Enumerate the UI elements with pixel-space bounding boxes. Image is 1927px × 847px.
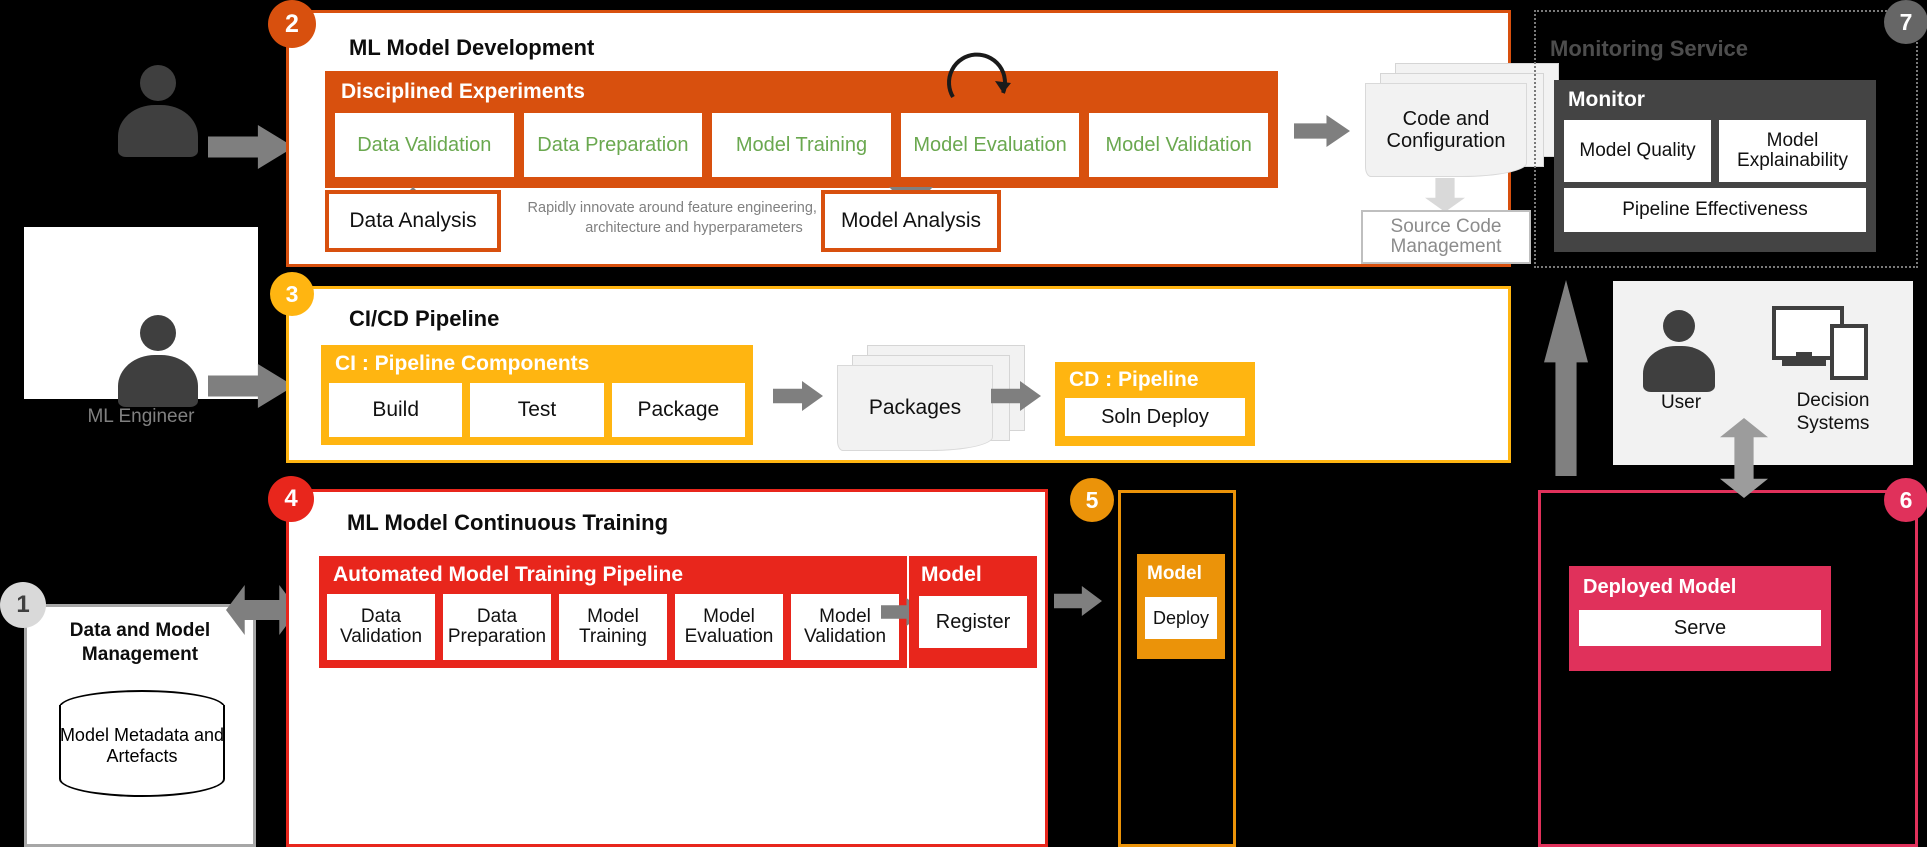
ml-engineer-icon bbox=[118, 315, 198, 407]
arrow-up-to-monitoring bbox=[1544, 280, 1588, 476]
panel2-title: ML Model Development bbox=[349, 35, 594, 61]
circular-loop-arrow-icon bbox=[937, 35, 1021, 119]
panel4-title: ML Model Continuous Training bbox=[347, 510, 668, 536]
panel-model-deploy: Model Deploy bbox=[1118, 490, 1236, 847]
user-icon bbox=[1643, 310, 1715, 392]
badge-7: 7 bbox=[1884, 0, 1927, 44]
panel-ml-model-development: ML Model Development Disciplined Experim… bbox=[286, 10, 1511, 267]
ci-step[interactable]: Test bbox=[470, 383, 603, 437]
experiment-step[interactable]: Model Evaluation bbox=[901, 113, 1080, 177]
arrow-register-to-deploy bbox=[1054, 586, 1102, 616]
panel-cicd-pipeline: CI/CD Pipeline CI : Pipeline Components … bbox=[286, 286, 1511, 463]
badge-6: 6 bbox=[1884, 478, 1927, 522]
automated-training-pipeline-band: Automated Model Training Pipeline Data V… bbox=[319, 556, 907, 668]
ci-pipeline-components-band: CI : Pipeline Components Build Test Pack… bbox=[321, 345, 753, 445]
deployed-band-title: Deployed Model bbox=[1583, 576, 1736, 599]
decision-systems-label: Decision Systems bbox=[1760, 390, 1906, 436]
badge-5: 5 bbox=[1070, 478, 1114, 522]
arrow-down-to-source-control bbox=[1425, 178, 1465, 212]
panel-ml-model-continuous-training: ML Model Continuous Training Automated M… bbox=[286, 489, 1048, 847]
deploy-band-title: Model bbox=[1147, 563, 1202, 585]
atp-band-title: Automated Model Training Pipeline bbox=[333, 563, 683, 587]
panel7-title: Monitoring Service bbox=[1550, 36, 1748, 62]
panel-monitoring-service: Monitoring Service Monitor Model Quality… bbox=[1534, 10, 1918, 268]
code-and-configuration-label: Code and Configuration bbox=[1365, 83, 1527, 177]
monitor-item[interactable]: Model Quality bbox=[1564, 120, 1711, 182]
training-step[interactable]: Model Evaluation bbox=[675, 594, 783, 660]
model-deploy-band: Model Deploy bbox=[1137, 554, 1225, 659]
experiment-step[interactable]: Data Validation bbox=[335, 113, 514, 177]
arrow-data-scientist-to-dev bbox=[208, 125, 294, 169]
cd-step[interactable]: Soln Deploy bbox=[1065, 398, 1245, 436]
model-deploy-step[interactable]: Deploy bbox=[1145, 597, 1217, 639]
badge-4: 4 bbox=[268, 476, 314, 522]
band-title: Disciplined Experiments bbox=[341, 80, 585, 104]
panel1-title: Data and Model Management bbox=[27, 619, 253, 667]
monitor-band-title: Monitor bbox=[1568, 88, 1645, 112]
user-label: User bbox=[1613, 392, 1749, 414]
disciplined-experiments-band: Disciplined Experiments Data Validation … bbox=[325, 71, 1278, 188]
panel-deployed-model: Deployed Model Serve bbox=[1538, 490, 1918, 847]
monitor-item[interactable]: Pipeline Effectiveness bbox=[1564, 188, 1866, 232]
training-step[interactable]: Model Validation bbox=[791, 594, 899, 660]
arrow-to-code-and-config bbox=[1294, 115, 1350, 147]
code-and-configuration-docs: Code and Configuration bbox=[1365, 63, 1557, 181]
badge-3: 3 bbox=[270, 272, 314, 316]
cd-band-title: CD : Pipeline bbox=[1069, 368, 1199, 392]
data-analysis-box[interactable]: Data Analysis bbox=[325, 190, 501, 252]
training-step[interactable]: Model Training bbox=[559, 594, 667, 660]
experiment-step[interactable]: Model Validation bbox=[1089, 113, 1268, 177]
model-analysis-box[interactable]: Model Analysis bbox=[821, 190, 1001, 252]
store-label: Model Metadata and Artefacts bbox=[59, 725, 225, 766]
arrow-ci-to-packages bbox=[773, 381, 823, 411]
experiment-step[interactable]: Model Training bbox=[712, 113, 891, 177]
panel3-title: CI/CD Pipeline bbox=[349, 306, 499, 332]
data-scientist-icon bbox=[118, 65, 198, 157]
training-step[interactable]: Data Validation bbox=[327, 594, 435, 660]
cd-pipeline-band: CD : Pipeline Soln Deploy bbox=[1055, 362, 1255, 446]
ci-band-title: CI : Pipeline Components bbox=[335, 352, 589, 376]
ml-engineer-label: ML Engineer bbox=[24, 406, 258, 428]
model-register-step[interactable]: Register bbox=[919, 596, 1027, 648]
experiment-step[interactable]: Data Preparation bbox=[524, 113, 703, 177]
training-step[interactable]: Data Preparation bbox=[443, 594, 551, 660]
packages-label: Packages bbox=[837, 365, 993, 451]
badge-1: 1 bbox=[0, 582, 46, 628]
monitor-item[interactable]: Model Explainability bbox=[1719, 120, 1866, 182]
monitor-band: Monitor Model Quality Model Explainabili… bbox=[1554, 80, 1876, 252]
database-cylinder-icon: Model Metadata and Artefacts bbox=[59, 690, 225, 795]
source-code-management-box[interactable]: Source Code Management bbox=[1361, 210, 1531, 264]
panel-data-and-model-management: Data and Model Management Model Metadata… bbox=[24, 604, 256, 847]
deployed-model-band: Deployed Model Serve bbox=[1569, 566, 1831, 671]
badge-2: 2 bbox=[268, 0, 316, 48]
deployed-model-serve-step[interactable]: Serve bbox=[1579, 610, 1821, 646]
model-band-title: Model bbox=[921, 563, 982, 587]
ci-step[interactable]: Package bbox=[612, 383, 745, 437]
ci-step[interactable]: Build bbox=[329, 383, 462, 437]
devices-icon bbox=[1772, 306, 1864, 390]
model-register-band: Model Register bbox=[909, 556, 1037, 668]
